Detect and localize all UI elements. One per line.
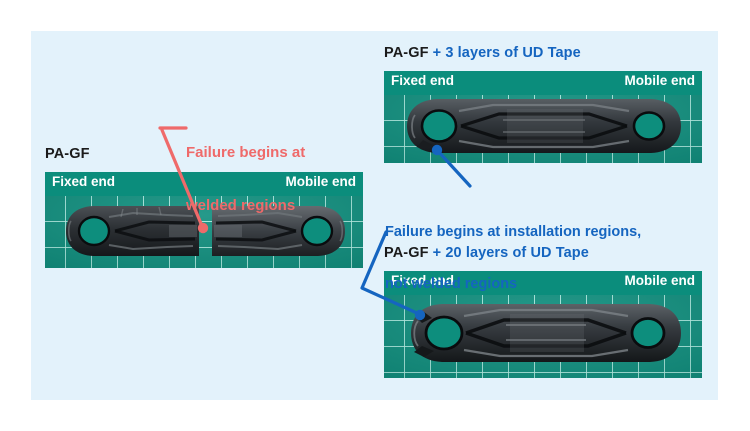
photo-pa-gf-3-layers: Fixed end Mobile end — [384, 71, 702, 163]
panel-title-prefix: PA-GF — [45, 146, 90, 162]
annotation-red-line1: Failure begins at — [186, 144, 305, 162]
annotation-blue-line2: not welded regions — [385, 276, 641, 293]
panel-title-prefix: PA-GF — [384, 45, 429, 61]
panel-title-pa-gf: PA-GF — [45, 146, 90, 162]
panel-title-pa-gf-3-layers: PA-GF + 3 layers of UD Tape — [384, 45, 581, 61]
annotation-blue-line1: Failure begins at installation regions, — [385, 224, 641, 241]
annotation-blue-failure-installation: Failure begins at installation regions, … — [385, 190, 641, 327]
fixed-end-label: Fixed end — [52, 174, 115, 189]
annotation-red-line2: welded regions — [186, 197, 305, 215]
mobile-end-label: Mobile end — [625, 73, 696, 88]
panel-pa-gf-3-layers: PA-GF + 3 layers of UD Tape — [384, 45, 702, 163]
part-connecting-rod-intact — [403, 95, 685, 157]
fixed-end-label: Fixed end — [391, 73, 454, 88]
annotation-red-failure-welded: Failure begins at welded regions — [186, 109, 305, 251]
panel-title-accent: + 3 layers of UD Tape — [429, 45, 581, 61]
figure-canvas: PA-GF — [0, 0, 750, 431]
